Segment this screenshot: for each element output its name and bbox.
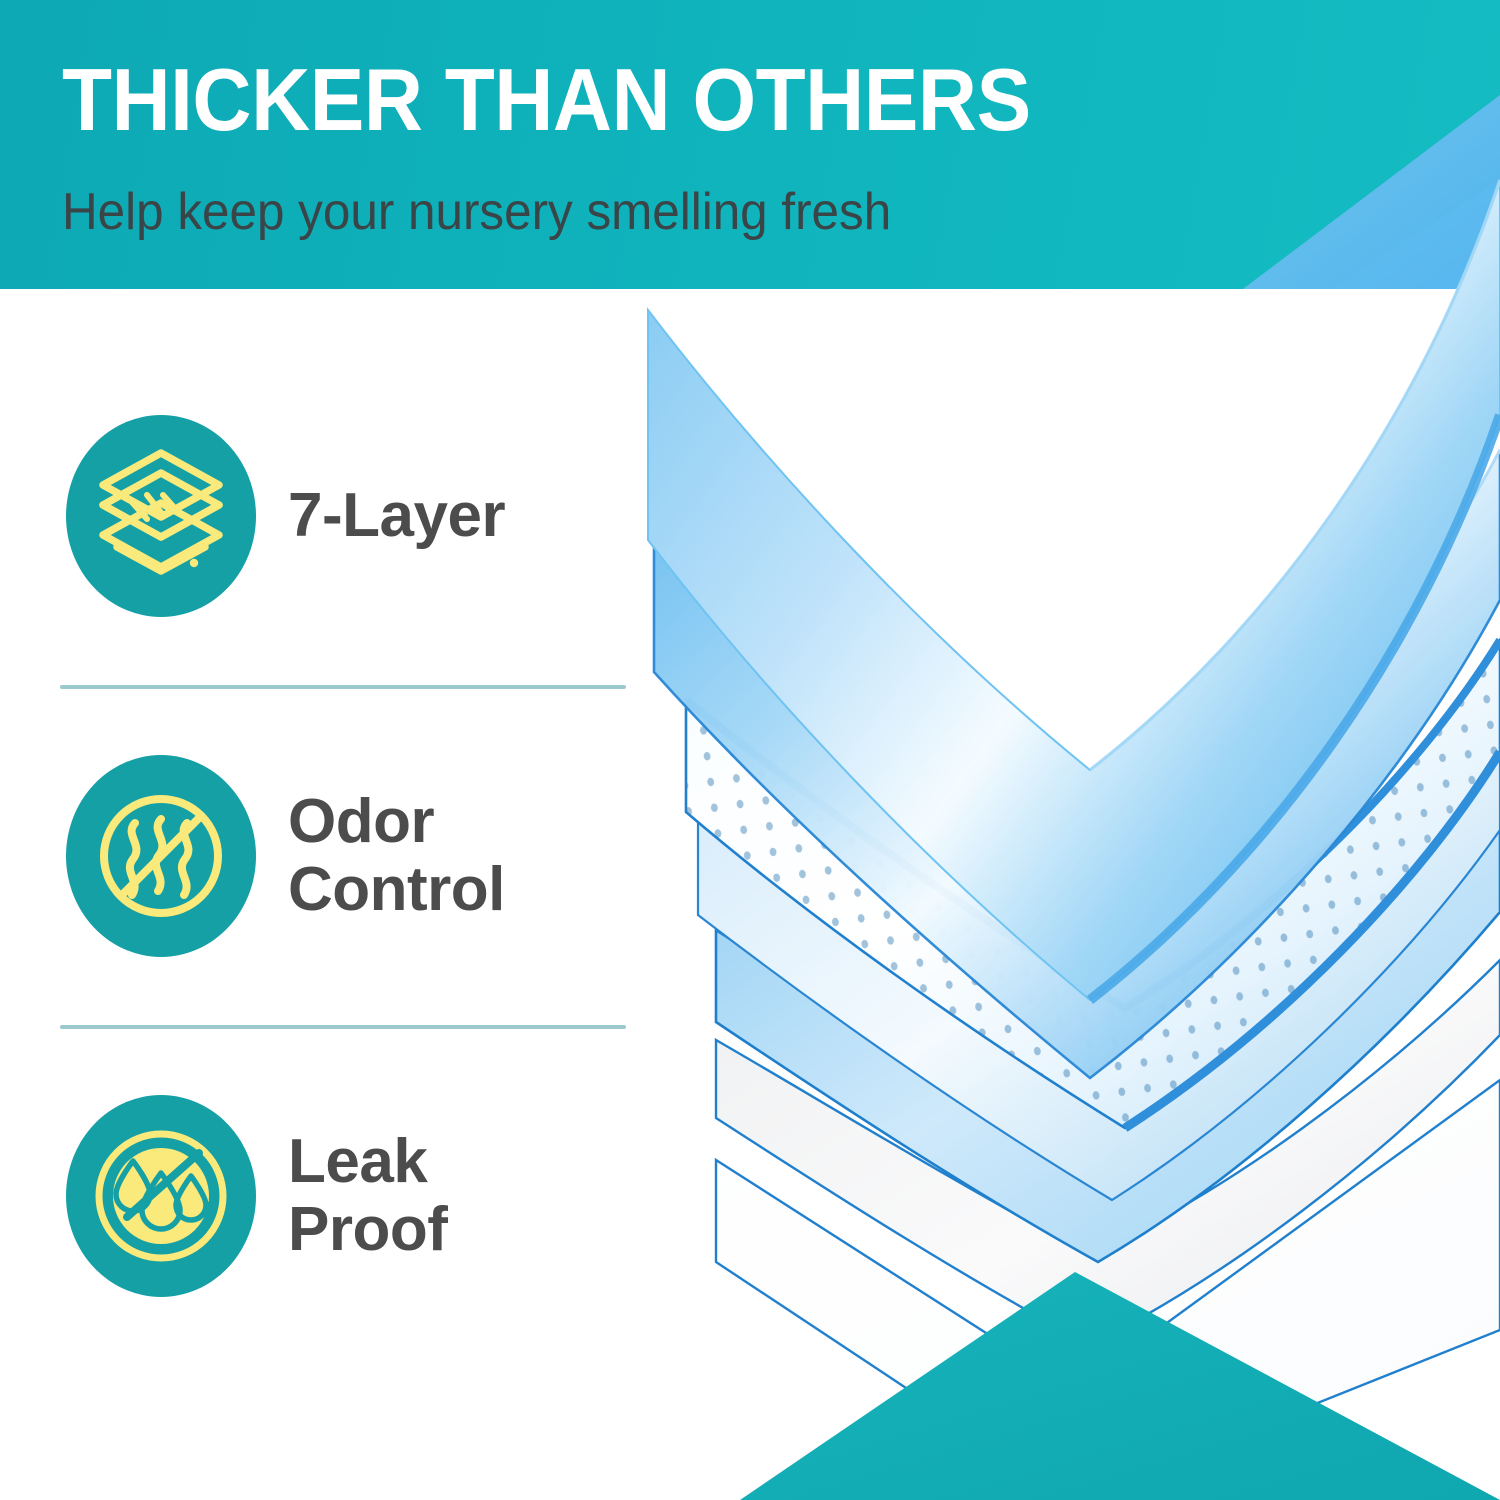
- feature-divider-2: [60, 1025, 626, 1029]
- feature-list: 7-Layer Odor Control: [0, 289, 660, 1500]
- no-odor-icon: [66, 755, 256, 957]
- feature-item-leak-proof: Leak Proof: [0, 1095, 660, 1297]
- no-leak-droplets-icon: [66, 1095, 256, 1297]
- feature-item-seven-layer: 7-Layer: [0, 415, 660, 617]
- layer-stack-illustration: [620, 0, 1500, 1500]
- feature-label-seven-layer: 7-Layer: [288, 482, 505, 550]
- feature-item-odor-control: Odor Control: [0, 755, 660, 957]
- stacked-layers-icon: [66, 415, 256, 617]
- feature-label-odor-control: Odor Control: [288, 788, 505, 924]
- feature-label-leak-proof: Leak Proof: [288, 1128, 447, 1264]
- product-feature-infographic: THICKER THAN OTHERS Help keep your nurse…: [0, 0, 1500, 1500]
- feature-divider-1: [60, 685, 626, 689]
